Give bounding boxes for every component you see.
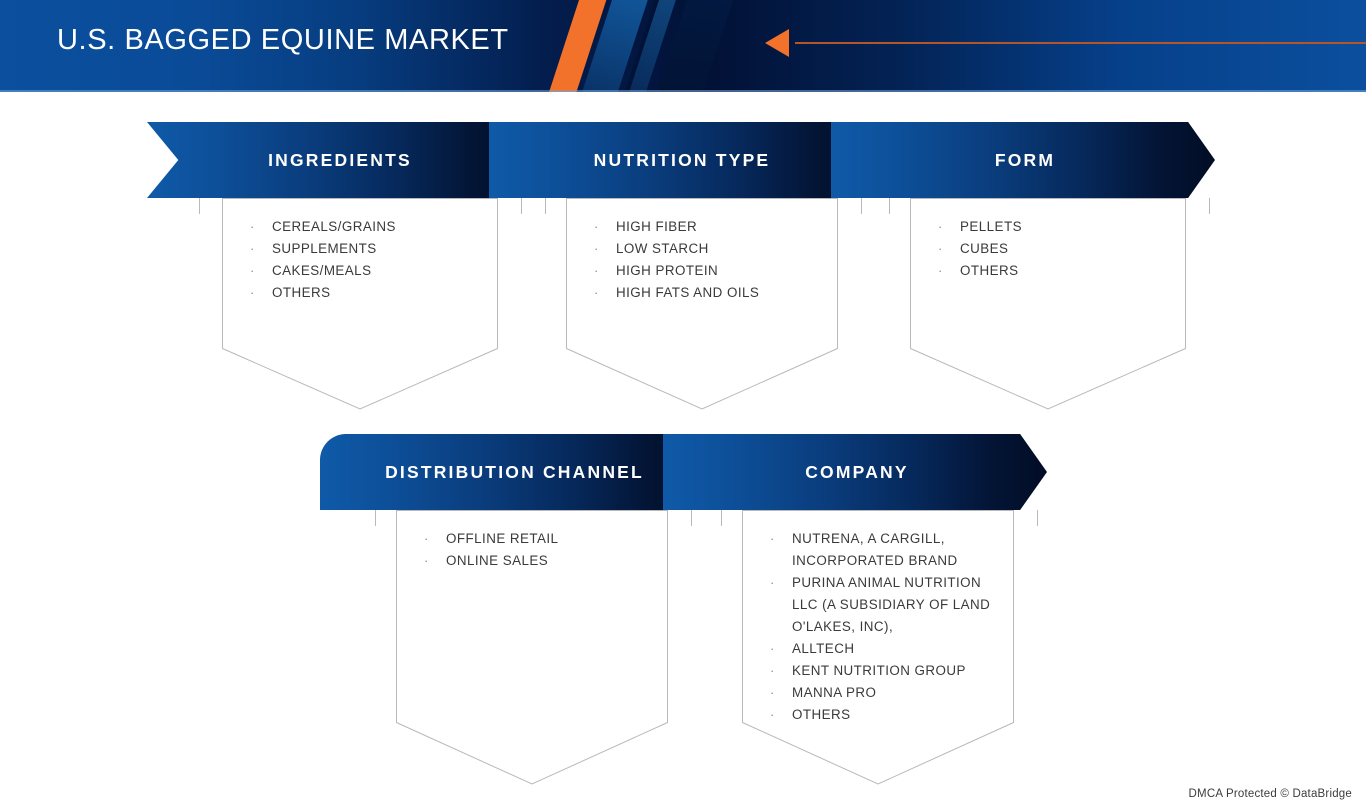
left-arrow-icon — [765, 29, 789, 57]
list-item: · ALLTECH — [770, 638, 1000, 660]
segment-panel-company: · NUTRENA, A CARGILL, INCORPORATED BRAND… — [742, 510, 1014, 785]
bullet-icon: · — [424, 550, 446, 572]
panel-tick-left — [375, 510, 376, 526]
list-item: · OTHERS — [250, 282, 484, 304]
list-item: · PELLETS — [938, 216, 1172, 238]
list-item: · HIGH PROTEIN — [594, 260, 824, 282]
list-item-text: OTHERS — [272, 282, 484, 304]
segment-panel-ingredients: · CEREALS/GRAINS · SUPPLEMENTS · CAKES/M… — [222, 198, 498, 410]
list-item: · OTHERS — [938, 260, 1172, 282]
list-item-text: MANNA PRO — [792, 682, 1000, 704]
list-item-text: HIGH FIBER — [616, 216, 824, 238]
list-item-text: LOW STARCH — [616, 238, 824, 260]
bullet-icon: · — [770, 682, 792, 704]
list-item-text: ALLTECH — [792, 638, 1000, 660]
bullet-icon: · — [594, 282, 616, 304]
list-item: · HIGH FIBER — [594, 216, 824, 238]
list-item-text: PELLETS — [960, 216, 1172, 238]
list-item: · MANNA PRO — [770, 682, 1000, 704]
segment-panel-distribution-channel: · OFFLINE RETAIL · ONLINE SALES — [396, 510, 668, 785]
list-item-text: CEREALS/GRAINS — [272, 216, 484, 238]
list-item-text: OFFLINE RETAIL — [446, 528, 654, 550]
list-item-text: KENT NUTRITION GROUP — [792, 660, 1000, 682]
list-item-text: HIGH FATS AND OILS — [616, 282, 824, 304]
bullet-icon: · — [770, 704, 792, 726]
segment-item-list: · CEREALS/GRAINS · SUPPLEMENTS · CAKES/M… — [222, 198, 498, 304]
segment-banner-form[interactable]: FORM — [831, 122, 1215, 198]
list-item-text: NUTRENA, A CARGILL, INCORPORATED BRAND — [792, 528, 1000, 572]
list-item: · LOW STARCH — [594, 238, 824, 260]
bullet-icon: · — [424, 528, 446, 550]
bullet-icon: · — [594, 216, 616, 238]
panel-tick-right — [691, 510, 692, 526]
list-item: · CAKES/MEALS — [250, 260, 484, 282]
segment-banner-distribution-channel[interactable]: DISTRIBUTION CHANNEL — [320, 434, 705, 510]
segment-banner-company[interactable]: COMPANY — [663, 434, 1047, 510]
panel-tick-right — [1037, 510, 1038, 526]
bullet-icon: · — [770, 572, 792, 638]
segment-panel-form: · PELLETS · CUBES · OTHERS — [910, 198, 1186, 410]
segment-item-list: · PELLETS · CUBES · OTHERS — [910, 198, 1186, 282]
list-item: · SUPPLEMENTS — [250, 238, 484, 260]
page-title: U.S. BAGGED EQUINE MARKET — [57, 24, 509, 57]
bullet-icon: · — [770, 528, 792, 572]
bullet-icon: · — [250, 260, 272, 282]
segment-banner-label: NUTRITION TYPE — [489, 150, 871, 171]
panel-tick-left — [721, 510, 722, 526]
panel-tick-left — [199, 198, 200, 214]
panel-tick-left — [545, 198, 546, 214]
footer-copyright: DMCA Protected © DataBridge — [1189, 788, 1352, 800]
bullet-icon: · — [594, 238, 616, 260]
segment-panel-nutrition-type: · HIGH FIBER · LOW STARCH · HIGH PROTEIN… — [566, 198, 838, 410]
bullet-icon: · — [770, 638, 792, 660]
segment-item-list: · HIGH FIBER · LOW STARCH · HIGH PROTEIN… — [566, 198, 838, 304]
infographic-page: U.S. BAGGED EQUINE MARKET INGREDIENTS NU… — [0, 0, 1366, 808]
bullet-icon: · — [938, 216, 960, 238]
bullet-icon: · — [938, 260, 960, 282]
bullet-icon: · — [250, 238, 272, 260]
page-header: U.S. BAGGED EQUINE MARKET — [0, 0, 1366, 92]
list-item: · ONLINE SALES — [424, 550, 654, 572]
list-item-text: HIGH PROTEIN — [616, 260, 824, 282]
bullet-icon: · — [770, 660, 792, 682]
list-item: · OTHERS — [770, 704, 1000, 726]
segment-banner-label: COMPANY — [663, 462, 1047, 483]
bullet-icon: · — [250, 282, 272, 304]
bullet-icon: · — [594, 260, 616, 282]
segment-item-list: · NUTRENA, A CARGILL, INCORPORATED BRAND… — [742, 510, 1014, 726]
list-item-text: CAKES/MEALS — [272, 260, 484, 282]
list-item: · HIGH FATS AND OILS — [594, 282, 824, 304]
segment-banner-label: DISTRIBUTION CHANNEL — [320, 462, 705, 483]
list-item: · OFFLINE RETAIL — [424, 528, 654, 550]
list-item-text: OTHERS — [960, 260, 1172, 282]
panel-tick-left — [889, 198, 890, 214]
panel-tick-right — [861, 198, 862, 214]
list-item: · CUBES — [938, 238, 1172, 260]
list-item-text: CUBES — [960, 238, 1172, 260]
bullet-icon: · — [250, 216, 272, 238]
segment-item-list: · OFFLINE RETAIL · ONLINE SALES — [396, 510, 668, 572]
panel-tick-right — [1209, 198, 1210, 214]
header-rule — [795, 42, 1366, 44]
bullet-icon: · — [938, 238, 960, 260]
list-item-text: OTHERS — [792, 704, 1000, 726]
list-item: · NUTRENA, A CARGILL, INCORPORATED BRAND — [770, 528, 1000, 572]
segment-banner-label: INGREDIENTS — [147, 150, 529, 171]
segment-banner-label: FORM — [831, 150, 1215, 171]
header-bottom-divider — [0, 90, 1366, 92]
segment-banner-ingredients[interactable]: INGREDIENTS — [147, 122, 529, 198]
list-item: · CEREALS/GRAINS — [250, 216, 484, 238]
segment-banner-nutrition-type[interactable]: NUTRITION TYPE — [489, 122, 871, 198]
list-item-text: ONLINE SALES — [446, 550, 654, 572]
list-item-text: SUPPLEMENTS — [272, 238, 484, 260]
panel-tick-right — [521, 198, 522, 214]
list-item: · PURINA ANIMAL NUTRITION LLC (A SUBSIDI… — [770, 572, 1000, 638]
list-item: · KENT NUTRITION GROUP — [770, 660, 1000, 682]
list-item-text: PURINA ANIMAL NUTRITION LLC (A SUBSIDIAR… — [792, 572, 1000, 638]
